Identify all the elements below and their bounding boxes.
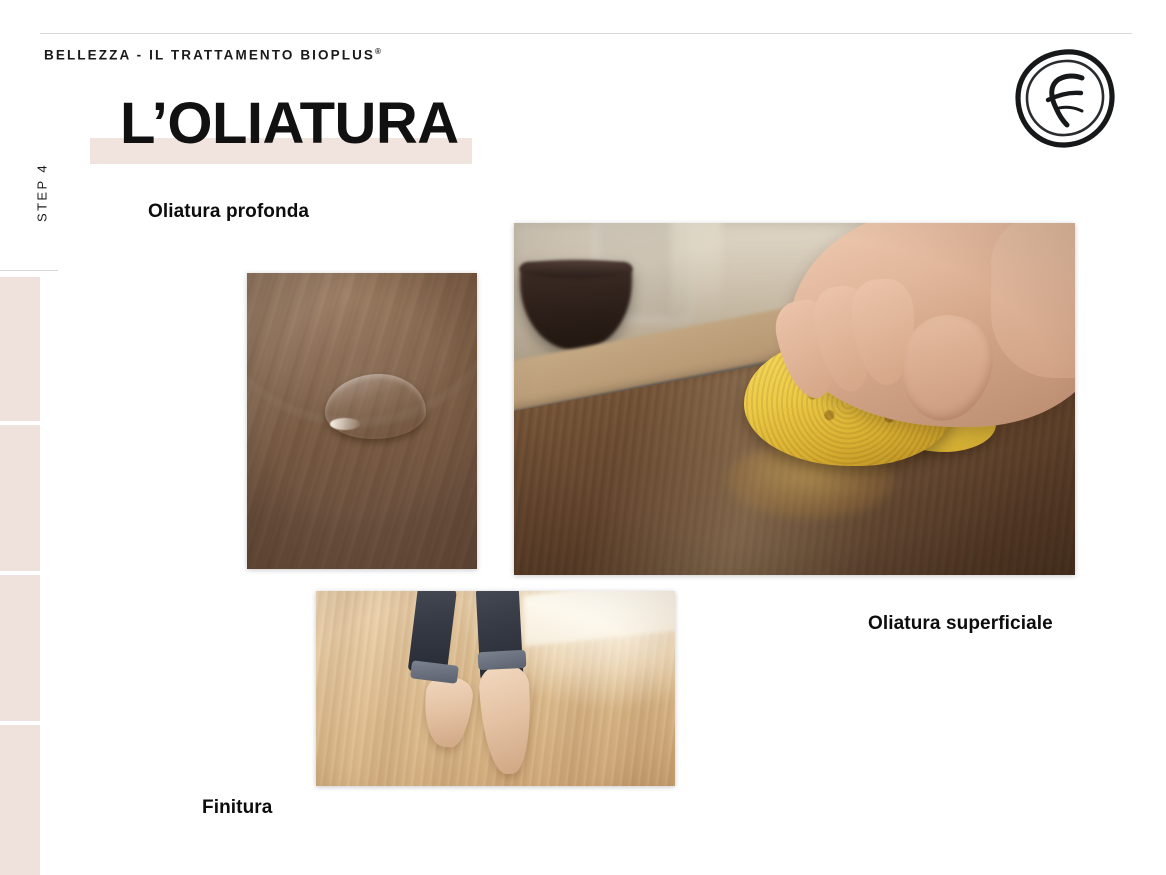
- caption-oliatura-superficiale: Oliatura superficiale: [868, 613, 1053, 635]
- circular-f-monogram-logo: [1012, 45, 1118, 151]
- page-title: L’OLIATURA: [120, 95, 459, 153]
- header-eyebrow-text: BELLEZZA - IL TRATTAMENTO BIOPLUS®: [44, 47, 381, 63]
- caption-oliatura-profonda: Oliatura profonda: [148, 201, 309, 223]
- photo-content: [247, 273, 477, 569]
- header-eyebrow-label: BELLEZZA - IL TRATTAMENTO BIOPLUS: [44, 48, 375, 63]
- step-rail-label: STEP 4: [35, 143, 50, 243]
- step-rail-divider: [0, 270, 58, 271]
- slide-canvas: BELLEZZA - IL TRATTAMENTO BIOPLUS® L’OLI…: [0, 0, 1166, 875]
- header-divider: [40, 33, 1132, 34]
- bare-feet-on-oak-floor-photo: [316, 591, 675, 786]
- step-rail-block: [0, 725, 40, 875]
- hand-applying-oil-with-sponge-photo: [514, 223, 1075, 575]
- step-rail-block: [0, 425, 40, 571]
- photo-content: [316, 591, 675, 786]
- photo-vignette: [247, 273, 477, 569]
- step-rail-block: [0, 575, 40, 721]
- oil-droplet-on-wood-photo: [247, 273, 477, 569]
- photo-content: [514, 223, 1075, 575]
- registered-trademark-symbol: ®: [375, 47, 381, 56]
- photo-vignette: [316, 591, 675, 786]
- caption-finitura: Finitura: [202, 797, 272, 819]
- step-rail-block: [0, 277, 40, 421]
- photo-vignette: [514, 223, 1075, 575]
